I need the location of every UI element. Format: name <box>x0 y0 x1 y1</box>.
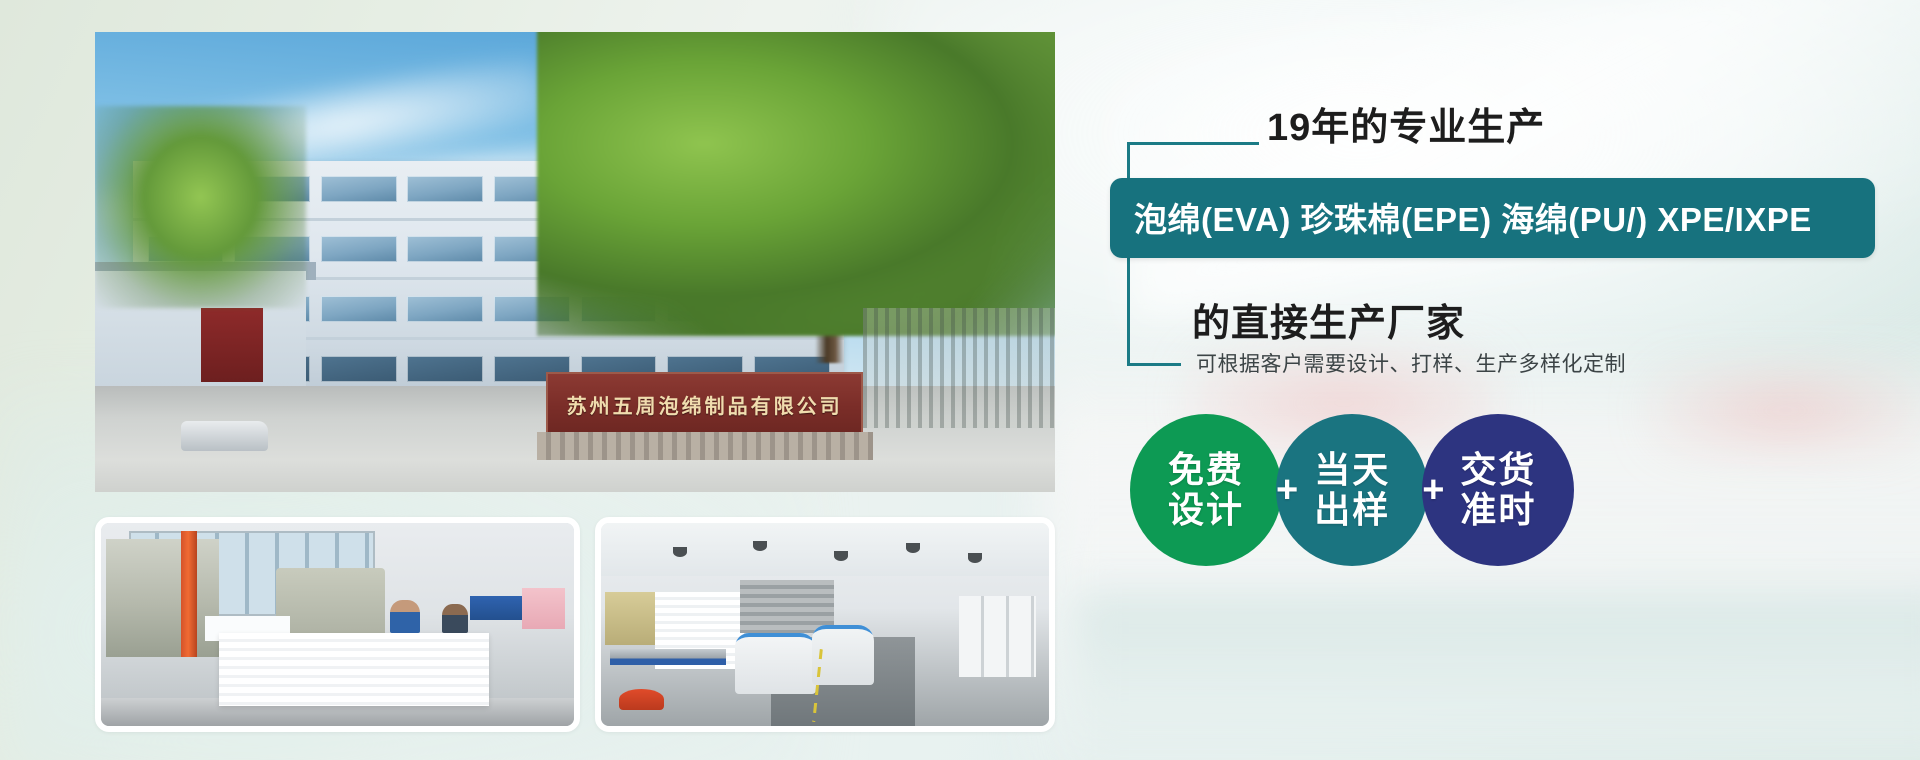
bracket-top-arm <box>1181 142 1259 145</box>
window <box>321 296 397 322</box>
parked-car <box>181 421 267 451</box>
feature-line-2: 出样 <box>1314 490 1390 530</box>
product-types-text: 泡绵(EVA) 珍珠棉(EPE) 海绵(PU/) XPE/IXPE <box>1134 193 1851 241</box>
feature-circle-same-day-sample: 当天 出样 <box>1276 414 1428 566</box>
window <box>407 176 483 202</box>
product-types-pill: 泡绵(EVA) 珍珠棉(EPE) 海绵(PU/) XPE/IXPE <box>1110 178 1875 258</box>
headline-bottom: 的直接生产厂家 <box>1192 292 1465 347</box>
ceiling-lamp <box>906 543 920 553</box>
fence <box>863 308 1055 428</box>
window <box>407 296 483 322</box>
wrapped-stack <box>740 580 834 633</box>
tree-left <box>95 106 306 308</box>
feature-line-1: 当天 <box>1314 450 1390 490</box>
worker <box>390 600 421 632</box>
red-cart <box>619 689 664 709</box>
warehouse-aisle-photo <box>595 517 1055 732</box>
pink-foam-stack <box>522 588 565 629</box>
plus-separator-1: + <box>1276 471 1298 509</box>
background-blur-pink-b <box>1651 365 1920 456</box>
sign-stone-base <box>537 432 873 460</box>
foam-cutting-workshop-photo <box>95 517 580 732</box>
feature-line-1: 交货 <box>1460 450 1536 490</box>
feature-circle-free-design: 免费 设计 <box>1130 414 1282 566</box>
company-sign-text: 苏州五周泡绵制品有限公司 <box>567 390 843 419</box>
factory-exterior-photo: 苏州五周泡绵制品有限公司 <box>95 32 1055 492</box>
sub-description: 可根据客户需要设计、打样、生产多样化定制 <box>1196 348 1626 378</box>
stacked-boxes <box>959 596 1035 677</box>
machine-arch <box>276 568 385 637</box>
red-awning <box>201 308 263 382</box>
window <box>321 356 397 382</box>
packed-bag <box>735 633 816 694</box>
feature-line-2: 准时 <box>1460 490 1536 530</box>
work-table <box>610 649 726 665</box>
photo-collage: 苏州五周泡绵制品有限公司 <box>95 32 1055 732</box>
window <box>321 236 397 262</box>
worker <box>442 604 468 632</box>
window <box>321 176 397 202</box>
headline-top: 19年的专业生产 <box>1267 96 1545 151</box>
feature-line-1: 免费 <box>1168 450 1244 490</box>
white-foam-slab <box>219 633 489 706</box>
feature-line-2: 设计 <box>1168 490 1244 530</box>
company-sign: 苏州五周泡绵制品有限公司 <box>546 372 863 436</box>
plus-separator-2: + <box>1422 471 1444 509</box>
background-blur-floor <box>1075 593 1920 760</box>
feature-circles: 免费 设计 + 当天 出样 + 交货 准时 <box>1130 414 1574 566</box>
feature-circle-on-time-delivery: 交货 准时 <box>1422 414 1574 566</box>
cutting-machine <box>106 539 220 657</box>
window <box>407 236 483 262</box>
tree-right <box>537 32 1055 336</box>
promo-banner: 苏州五周泡绵制品有限公司 <box>0 0 1920 760</box>
window <box>407 356 483 382</box>
red-column <box>181 531 196 657</box>
warehouse-ceiling <box>601 523 1049 576</box>
yellow-machine <box>605 592 659 645</box>
